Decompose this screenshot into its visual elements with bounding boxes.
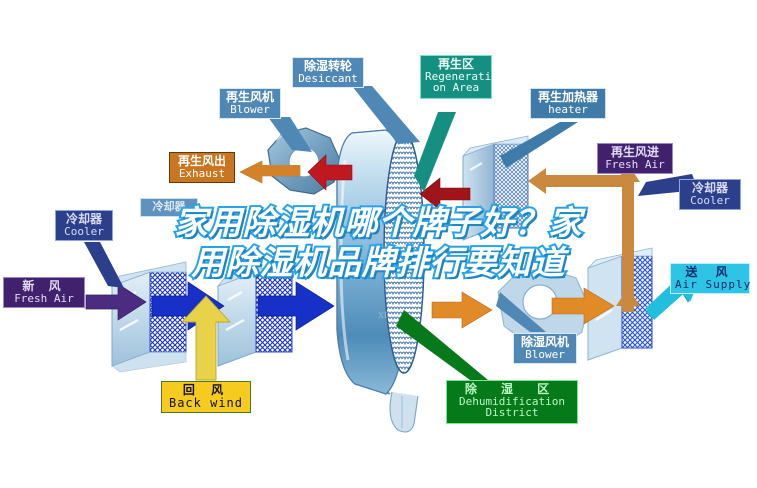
label-air-supply-cn: 送 风 <box>675 266 745 279</box>
label-back-wind[interactable]: 回 风 Back wind <box>161 381 251 413</box>
label-regen-heater[interactable]: 再生加热器 heater <box>530 88 606 119</box>
label-air-supply-en: Air Supply <box>675 279 745 291</box>
regen-fan-housing <box>268 128 340 194</box>
label-back-wind-en: Back wind <box>166 397 246 410</box>
label-fresh-air-in[interactable]: 新 风 Fresh Air <box>3 277 85 308</box>
label-regen-heater-en: heater <box>535 104 601 116</box>
label-regen-exhaust-cn: 再生风出 <box>174 155 230 168</box>
label-regen-blower-en: Blower <box>224 104 276 116</box>
label-fresh-air-in-cn: 新 风 <box>8 280 80 293</box>
label-dehumid-blower[interactable]: 除湿风机 Blower <box>513 333 577 364</box>
label-cooler-right-cn: 冷却器 <box>684 182 736 195</box>
label-desiccant-wheel[interactable]: 除湿转轮 Desiccant <box>292 57 364 88</box>
label-regeneration-area-en2: on Area <box>425 82 487 94</box>
label-regen-fresh-air-in[interactable]: 再生风进 Fresh Air <box>597 143 673 174</box>
label-desiccant-wheel-cn: 除湿转轮 <box>297 60 359 73</box>
svg-text:xt: xt <box>378 307 388 321</box>
label-desiccant-wheel-en: Desiccant <box>297 73 359 85</box>
label-regen-exhaust[interactable]: 再生风出 Exhaust <box>169 152 235 183</box>
label-cooler-right[interactable]: 冷却器 Cooler <box>679 179 741 210</box>
label-regen-heater-cn: 再生加热器 <box>535 91 601 104</box>
label-regen-blower[interactable]: 再生风机 Blower <box>219 88 281 119</box>
dry-air-arrow-1 <box>432 292 492 328</box>
schematic-svg: xt <box>0 0 757 488</box>
label-cooler-left-en: Cooler <box>60 226 108 238</box>
label-regen-exhaust-en: Exhaust <box>174 168 230 180</box>
label-fresh-air-in-en: Fresh Air <box>8 293 80 305</box>
label-regen-blower-cn: 再生风机 <box>224 91 276 104</box>
label-regen-fresh-air-in-cn: 再生风进 <box>602 146 668 159</box>
label-cooler-left[interactable]: 冷却器 Cooler <box>55 210 113 241</box>
label-cooler-left-small-cn: 冷却器 <box>145 201 193 213</box>
diagram-canvas: xt <box>0 0 757 488</box>
label-dehumidification-district[interactable]: 除 湿 区 Dehumidification District <box>446 380 578 424</box>
label-cooler-left-cn: 冷却器 <box>60 213 108 226</box>
label-regeneration-area-cn: 再生区 <box>425 58 487 71</box>
label-air-supply[interactable]: 送 风 Air Supply <box>670 263 750 294</box>
label-back-wind-cn: 回 风 <box>166 384 246 397</box>
label-cooler-right-en: Cooler <box>684 195 736 207</box>
label-dehumidification-district-en2: District <box>451 407 573 419</box>
label-dehumid-blower-cn: 除湿风机 <box>518 336 572 349</box>
label-regen-fresh-air-in-en: Fresh Air <box>602 159 668 171</box>
label-cooler-left-small[interactable]: 冷却器 <box>140 198 198 217</box>
label-dehumid-blower-en: Blower <box>518 349 572 361</box>
label-regeneration-area[interactable]: 再生区 Regenerati on Area <box>420 55 492 99</box>
label-dehumidification-district-cn: 除 湿 区 <box>451 383 573 396</box>
